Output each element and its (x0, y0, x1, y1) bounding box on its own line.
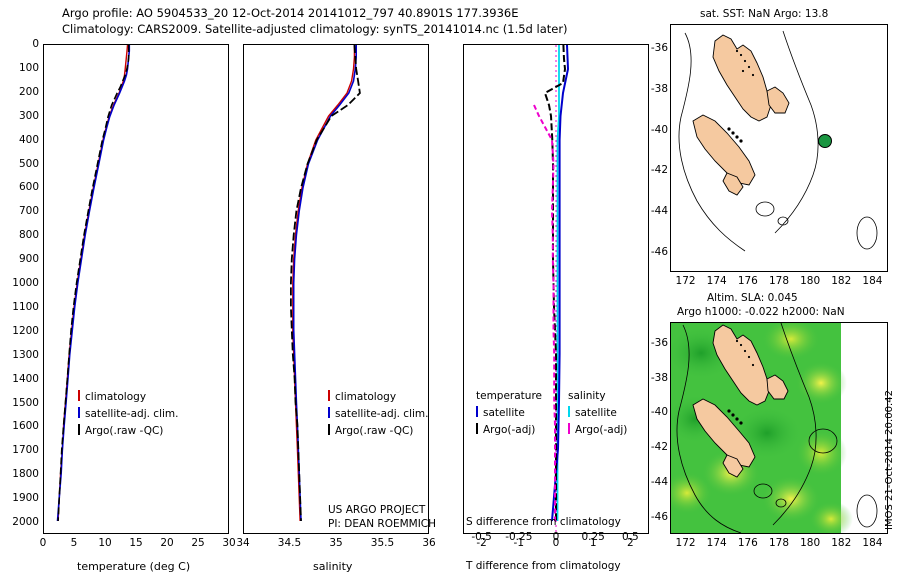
pi-text: PI: DEAN ROEMMICH (328, 518, 436, 530)
map-y-tick: -36 (640, 42, 668, 54)
temperature-y-tick: 300 (0, 110, 39, 122)
legend-item-satellite-adj: satellite-adj. clim. (328, 407, 428, 420)
temperature-y-tick: 1900 (0, 492, 39, 504)
imos-timestamp: IMOS 21-Oct-2014 20:00:42 (884, 390, 895, 530)
temperature-legend: climatology satellite-adj. clim. Argo(.r… (78, 390, 178, 437)
temperature-y-tick: 0 (0, 38, 39, 50)
temperature-y-tick: 1700 (0, 444, 39, 456)
temperature-profile-panel (43, 44, 229, 534)
legend-item-s-satellite: satellite (568, 406, 627, 419)
tick-label: 34.5 (267, 537, 313, 549)
temperature-y-tick: 200 (0, 86, 39, 98)
map-y-tick: -44 (640, 476, 668, 488)
legend-label-argo-raw: Argo(.raw -QC) (335, 425, 413, 437)
map-y-tick: -40 (640, 124, 668, 136)
legend-label-climatology: climatology (85, 391, 146, 403)
legend-item-argo-raw: Argo(.raw -QC) (328, 424, 428, 437)
map-bottom-title-line2: Argo h1000: -0.022 h2000: NaN (677, 306, 845, 318)
legend-label-satellite-adj: satellite-adj. clim. (85, 408, 178, 420)
tick-label: 184 (849, 275, 895, 287)
temperature-x-axis-label: temperature (deg C) (77, 560, 190, 573)
tick-label: 2 (607, 537, 653, 549)
temperature-y-tick: 1100 (0, 301, 39, 313)
map-y-tick: -42 (640, 441, 668, 453)
map-bottom-title-line1: Altim. SLA: 0.045 (707, 292, 798, 304)
map-y-tick: -46 (640, 246, 668, 258)
map-top-title: sat. SST: NaN Argo: 13.8 (700, 8, 828, 20)
legend-swatch-t-argo-adj (476, 423, 478, 434)
temperature-y-tick: 800 (0, 229, 39, 241)
legend-swatch-satellite-adj (78, 407, 80, 418)
legend-item-t-satellite: satellite (476, 406, 542, 419)
legend-swatch-satellite-adj (328, 407, 330, 418)
temperature-y-tick: 500 (0, 158, 39, 170)
difference-t-axis-label: T difference from climatology (466, 560, 621, 572)
temperature-y-tick: 1600 (0, 420, 39, 432)
legend-swatch-s-argo-adj (568, 423, 570, 434)
salinity-legend: climatology satellite-adj. clim. Argo(.r… (328, 390, 428, 437)
legend-swatch-argo-raw (78, 424, 80, 435)
temperature-y-tick: 1200 (0, 325, 39, 337)
salinity-profile-plot (244, 45, 428, 533)
figure-title-line2: Climatology: CARS2009. Satellite-adjuste… (62, 22, 568, 36)
temperature-y-tick: 1500 (0, 397, 39, 409)
salinity-x-axis-label: salinity (313, 560, 352, 573)
tick-label: 35.5 (360, 537, 406, 549)
legend-item-climatology: climatology (78, 390, 178, 403)
sla-map (671, 323, 887, 533)
legend-header-salinity: salinity (568, 390, 627, 402)
temperature-profile-plot (44, 45, 228, 533)
temperature-y-tick: 2000 (0, 516, 39, 528)
difference-s-axis-label: S difference from climatology (466, 516, 621, 528)
legend-swatch-climatology (78, 390, 80, 401)
legend-label-s-argo-adj: Argo(-adj) (575, 424, 627, 436)
temperature-y-tick: 400 (0, 134, 39, 146)
temperature-y-tick: 1400 (0, 373, 39, 385)
legend-label-climatology: climatology (335, 391, 396, 403)
tick-label: 34 (220, 537, 266, 549)
figure-title-line1: Argo profile: AO 5904533_20 12-Oct-2014 … (62, 6, 518, 20)
legend-item-climatology: climatology (328, 390, 428, 403)
legend-label-argo-raw: Argo(.raw -QC) (85, 425, 163, 437)
difference-profile-plot (464, 45, 648, 533)
legend-item-s-argo-adj: Argo(-adj) (568, 423, 627, 436)
us-argo-project-text: US ARGO PROJECT (328, 504, 425, 516)
map-y-tick: -38 (640, 83, 668, 95)
legend-item-t-argo-adj: Argo(-adj) (476, 423, 542, 436)
temperature-y-tick: 100 (0, 62, 39, 74)
legend-item-argo-raw: Argo(.raw -QC) (78, 424, 178, 437)
sla-map-panel (670, 322, 888, 534)
salinity-profile-panel (243, 44, 429, 534)
tick-label: 36 (406, 537, 452, 549)
tick-label: 184 (849, 537, 895, 549)
difference-legend-salinity: salinity satellite Argo(-adj) (568, 390, 627, 436)
map-y-tick: -46 (640, 511, 668, 523)
map-y-tick: -44 (640, 205, 668, 217)
temperature-y-tick: 600 (0, 181, 39, 193)
legend-label-temperature: temperature (476, 390, 542, 402)
map-y-tick: -40 (640, 406, 668, 418)
sst-map (671, 25, 887, 271)
legend-swatch-t-satellite (476, 406, 478, 417)
temperature-y-tick: 900 (0, 253, 39, 265)
sst-map-panel (670, 24, 888, 272)
difference-legend-temperature: temperature satellite Argo(-adj) (476, 390, 542, 436)
legend-label-s-satellite: satellite (575, 407, 617, 419)
legend-label-salinity: salinity (568, 390, 606, 402)
legend-label-satellite-adj: satellite-adj. clim. (335, 408, 428, 420)
legend-header-temperature: temperature (476, 390, 542, 402)
map-y-tick: -36 (640, 337, 668, 349)
temperature-y-tick: 1300 (0, 349, 39, 361)
legend-item-satellite-adj: satellite-adj. clim. (78, 407, 178, 420)
temperature-y-tick: 1000 (0, 277, 39, 289)
map-y-tick: -42 (640, 164, 668, 176)
figure-root: Argo profile: AO 5904533_20 12-Oct-2014 … (0, 0, 900, 580)
map-y-tick: -38 (640, 372, 668, 384)
legend-label-t-argo-adj: Argo(-adj) (483, 424, 535, 436)
legend-swatch-argo-raw (328, 424, 330, 435)
legend-swatch-climatology (328, 390, 330, 401)
difference-profile-panel (463, 44, 649, 534)
temperature-y-tick: 700 (0, 205, 39, 217)
tick-label: 35 (313, 537, 359, 549)
legend-swatch-s-satellite (568, 406, 570, 417)
temperature-y-tick: 1800 (0, 468, 39, 480)
legend-label-t-satellite: satellite (483, 407, 525, 419)
